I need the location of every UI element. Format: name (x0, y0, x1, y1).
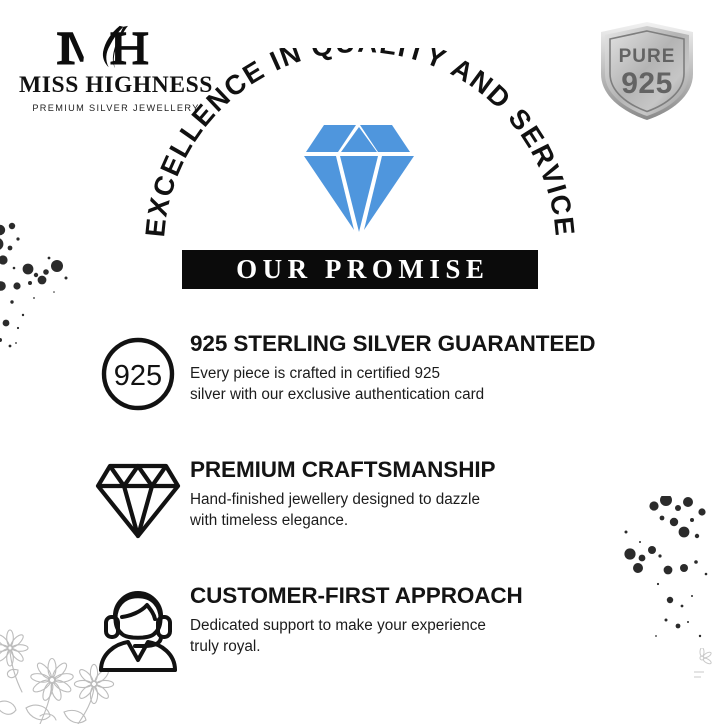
feature-description-line: Hand-finished jewellery designed to dazz… (190, 489, 495, 511)
our-promise-banner: OUR PROMISE (182, 250, 538, 289)
feature-description-line: silver with our exclusive authentication… (190, 384, 595, 406)
feature-description: Hand-finished jewellery designed to dazz… (190, 489, 495, 532)
feature-description-line: with timeless elegance. (190, 510, 495, 532)
pure-925-badge: PURE 925 (597, 20, 697, 127)
feature-list: 925 925 STERLING SILVER GUARANTEED Every… (0, 330, 720, 660)
badge-line2-text: 925 (621, 67, 673, 100)
hero-diamond-icon (300, 122, 420, 239)
feature-row: CUSTOMER-FIRST APPROACH Dedicated suppor… (0, 582, 720, 692)
feature-title: CUSTOMER-FIRST APPROACH (190, 584, 523, 608)
feature-description-line: truly royal. (190, 636, 523, 658)
diamond-outline-icon (92, 460, 184, 540)
feature-description: Dedicated support to make your experienc… (190, 615, 523, 658)
badge-line1-text: PURE (619, 46, 676, 67)
promise-infographic: MISS HIGHNESS PREMIUM SILVER JEWELLERY (0, 0, 720, 720)
feature-row: 925 925 STERLING SILVER GUARANTEED Every… (0, 330, 720, 440)
feature-description-line: Dedicated support to make your experienc… (190, 615, 523, 637)
circle-925-icon: 925 (92, 334, 184, 414)
feature-description: Every piece is crafted in certified 925 … (190, 363, 595, 406)
feature-row: PREMIUM CRAFTSMANSHIP Hand-finished jewe… (0, 456, 720, 566)
our-promise-title: OUR PROMISE (231, 256, 490, 283)
shield-icon: PURE 925 (597, 20, 697, 122)
support-agent-icon (92, 586, 184, 672)
svg-text:925: 925 (114, 360, 162, 392)
feature-title: 925 STERLING SILVER GUARANTEED (190, 332, 595, 356)
feature-description-line: Every piece is crafted in certified 925 (190, 363, 595, 385)
feature-title: PREMIUM CRAFTSMANSHIP (190, 458, 495, 482)
